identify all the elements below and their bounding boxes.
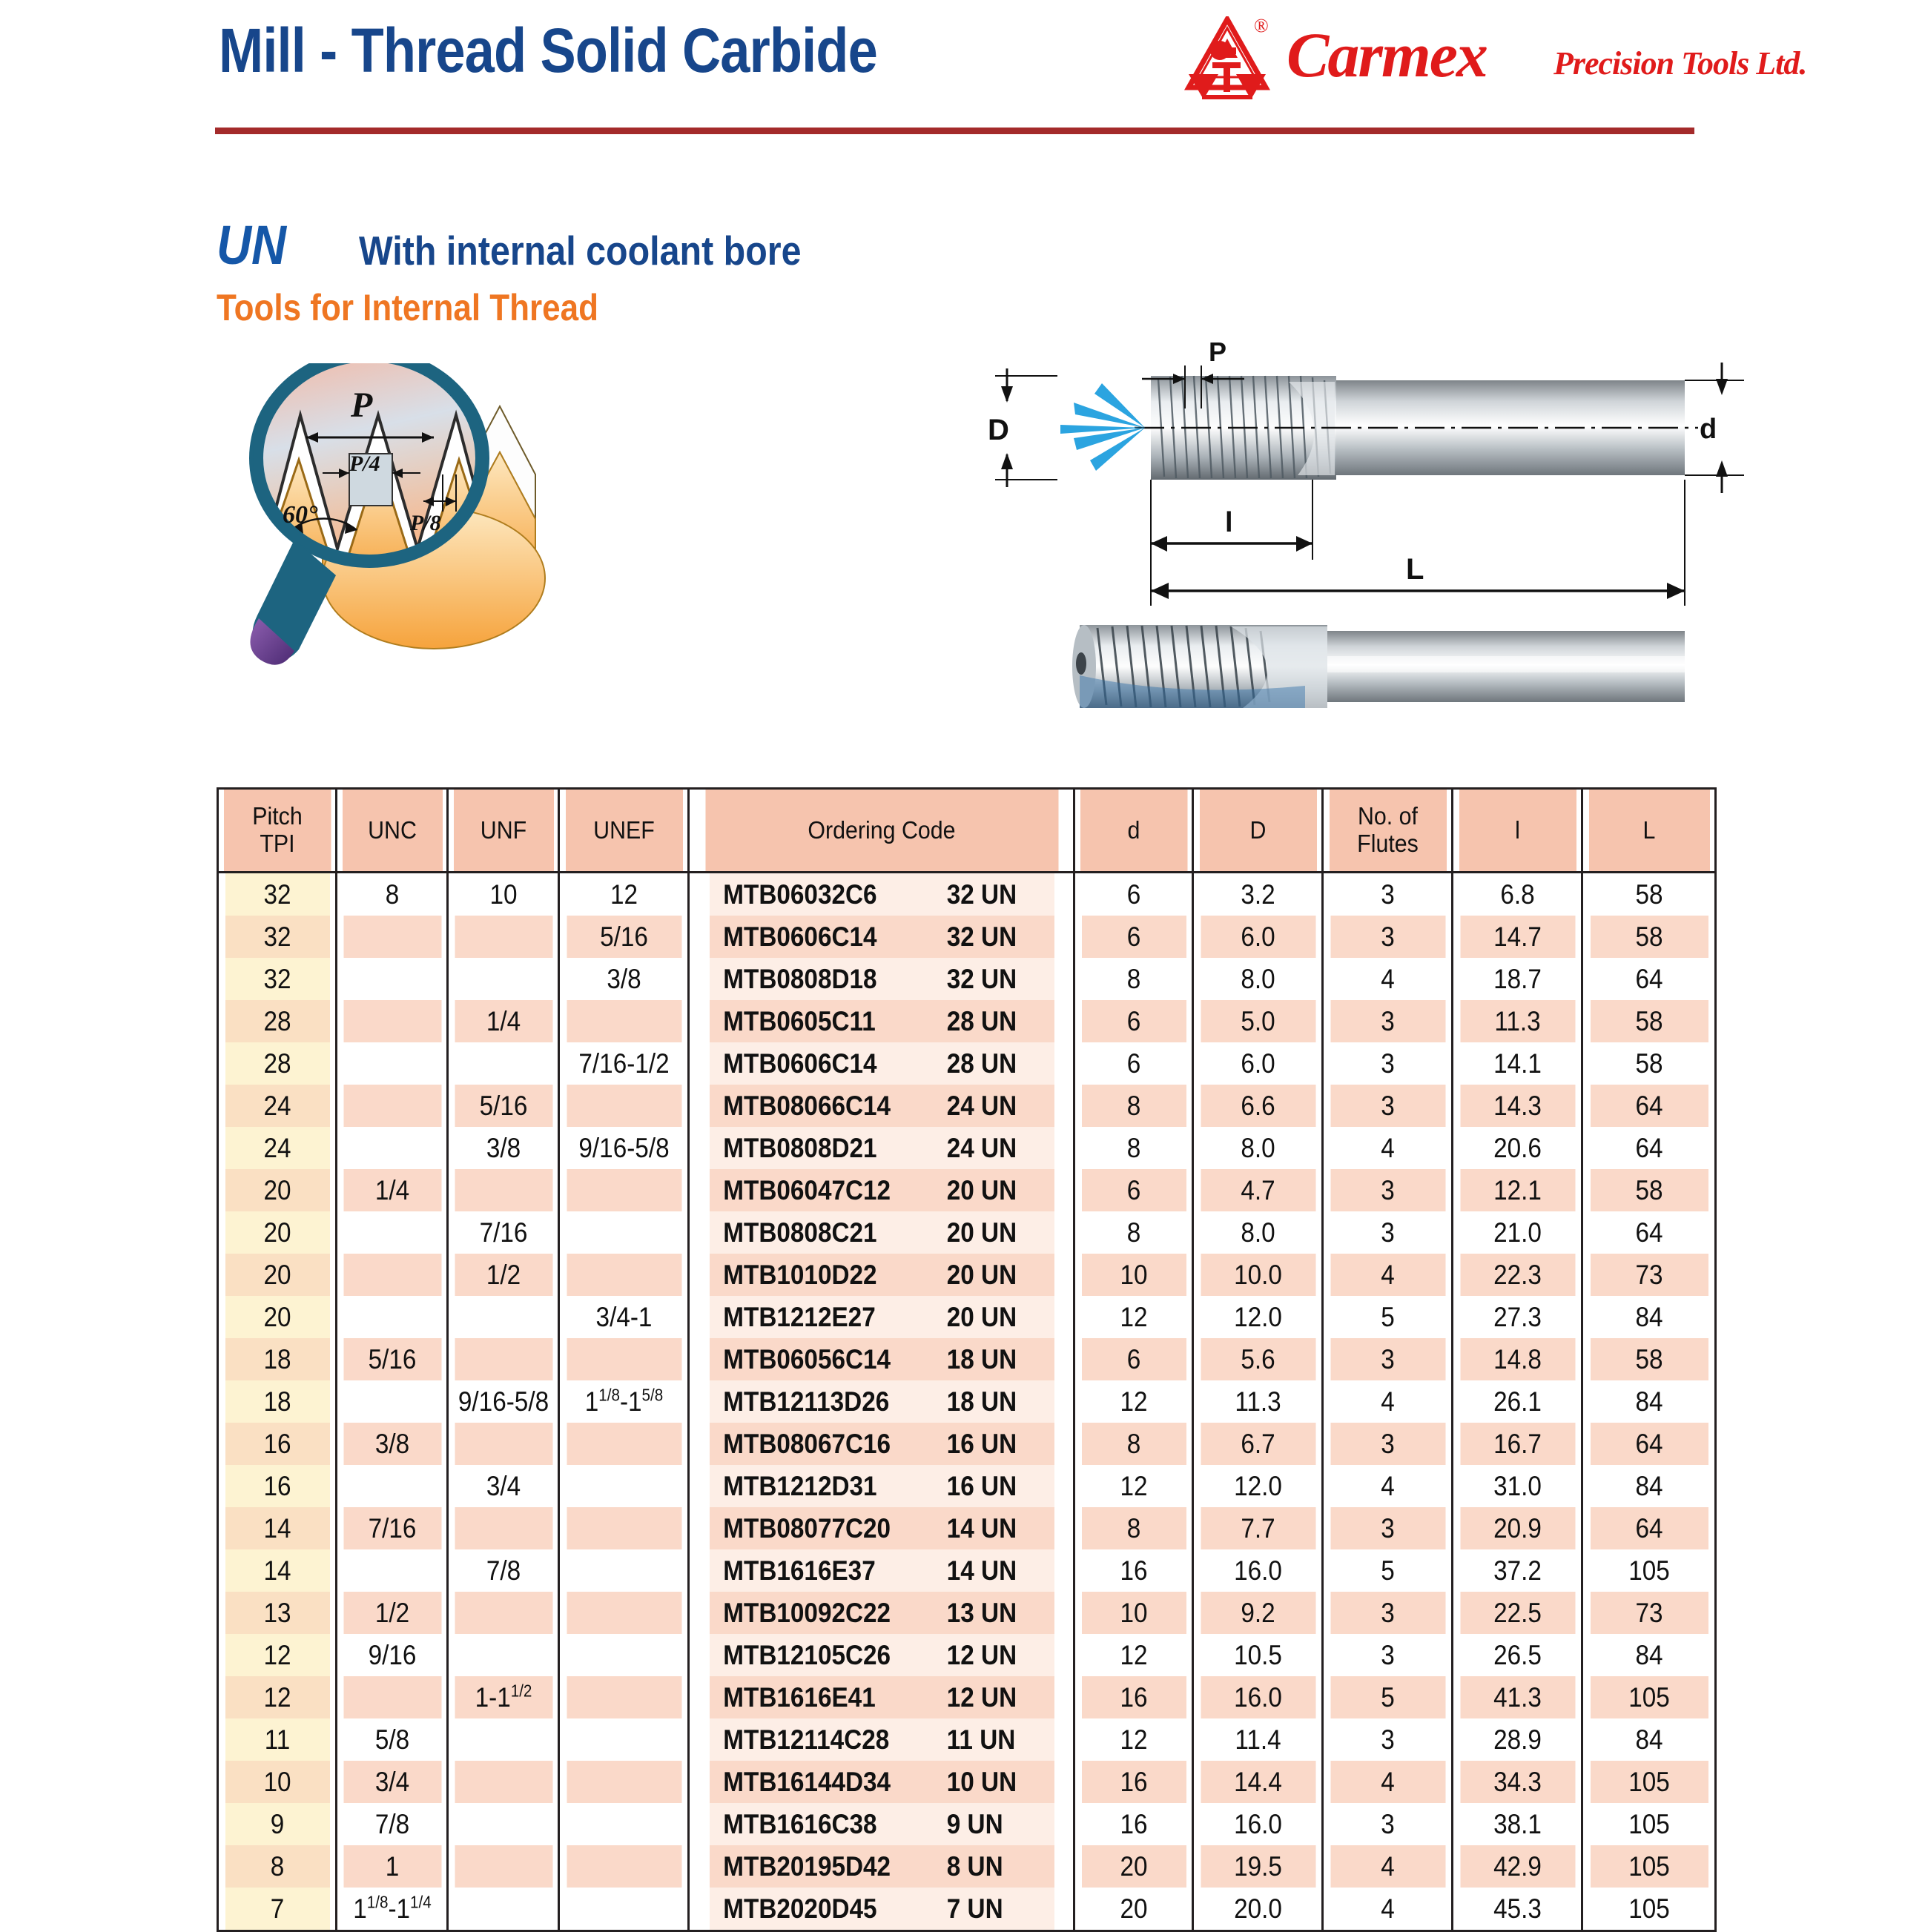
cell-shank-diameter: 6 [1080,873,1187,916]
col-header-D-major: D [1198,789,1318,873]
cell-no-of-flutes: 4 [1329,1845,1446,1888]
cell-unc: 3/8 [342,1423,442,1465]
cell-no-of-flutes: 4 [1329,1127,1446,1169]
cell-unc [342,1549,442,1592]
cell-unf [453,1761,553,1803]
cell-overall-length: 105 [1589,1676,1709,1718]
cell-shank-diameter: 12 [1080,1465,1187,1507]
table-row: 323/8MTB0808D1832 UN88.0418.764 [218,958,1716,1000]
table-row: 81MTB20195D428 UN2019.5442.9105 [218,1845,1716,1888]
cell-pitch-tpi: 12 [224,1634,331,1676]
cell-no-of-flutes: 3 [1329,1169,1446,1211]
cell-unef [565,1676,682,1718]
cell-unef: 3/8 [565,958,682,1000]
cell-overall-length: 105 [1589,1761,1709,1803]
cell-unef [565,1254,682,1296]
col-header-ordering-code: Ordering Code [704,789,1058,873]
cell-overall-length: 64 [1589,958,1709,1000]
cell-unf: 10 [453,873,553,916]
cell-no-of-flutes: 4 [1329,958,1446,1000]
cell-unc [342,916,442,958]
cell-overall-length: 58 [1589,1042,1709,1085]
magnifier-label-angle: 60° [283,501,318,529]
cell-unf [453,1718,553,1761]
cell-major-diameter: 8.0 [1199,958,1316,1000]
thread-standard-code: UN [217,214,286,277]
cell-unc [342,1211,442,1254]
catalog-page: Mill - Thread Solid Carbide ® Carmex [0,0,1925,1925]
cell-unef [565,1211,682,1254]
cell-ordering-code: MTB0808C2120 UN [708,1211,1055,1254]
table-row: 185/16MTB06056C1418 UN65.6314.858 [218,1338,1716,1380]
cell-unc: 5/8 [342,1718,442,1761]
cell-pitch-tpi: 24 [224,1085,331,1127]
cell-unf [453,1634,553,1676]
table-row: 281/4MTB0605C1128 UN65.0311.358 [218,1000,1716,1042]
cell-thread-length: 34.3 [1459,1761,1576,1803]
cell-shank-diameter: 12 [1080,1634,1187,1676]
cell-thread-length: 6.8 [1459,873,1576,916]
cell-pitch-tpi: 28 [224,1000,331,1042]
cell-shank-diameter: 8 [1080,1423,1187,1465]
diagram-label-P: P [1209,337,1226,367]
cell-major-diameter: 4.7 [1199,1169,1316,1211]
cell-unf: 3/4 [453,1465,553,1507]
cell-major-diameter: 10.5 [1199,1634,1316,1676]
cell-no-of-flutes: 3 [1329,1634,1446,1676]
cell-no-of-flutes: 3 [1329,1423,1446,1465]
cell-overall-length: 58 [1589,873,1709,916]
col-header-L: L [1588,789,1711,873]
cell-unef [565,1423,682,1465]
cell-no-of-flutes: 4 [1329,1465,1446,1507]
thread-profile-illustration: P P/4 P/8 60° [211,363,597,712]
cell-unc [342,958,442,1000]
registered-mark: ® [1254,15,1269,37]
cell-shank-diameter: 8 [1080,958,1187,1000]
cell-thread-length: 31.0 [1459,1465,1576,1507]
cell-overall-length: 84 [1589,1634,1709,1676]
cell-overall-length: 105 [1589,1803,1709,1845]
table-row: 243/89/16-5/8MTB0808D2124 UN88.0420.664 [218,1127,1716,1169]
cell-unf [453,1296,553,1338]
cell-shank-diameter: 16 [1080,1761,1187,1803]
cell-ordering-code: MTB0606C1428 UN [708,1042,1055,1085]
table-row: 147/8MTB1616E3714 UN1616.0537.2105 [218,1549,1716,1592]
cell-pitch-tpi: 16 [224,1465,331,1507]
cell-overall-length: 64 [1589,1423,1709,1465]
table-row: 129/16MTB12105C2612 UN1210.5326.584 [218,1634,1716,1676]
magnifier-label-p4: P/4 [349,451,380,476]
cell-thread-length: 14.1 [1459,1042,1576,1085]
cell-major-diameter: 8.0 [1199,1127,1316,1169]
cell-overall-length: 64 [1589,1127,1709,1169]
cell-unc [342,1676,442,1718]
section-heading: UN With internal coolant bore Tools for … [217,214,296,277]
cell-unef [565,1718,682,1761]
cell-thread-length: 26.5 [1459,1634,1576,1676]
col-header-l: l [1458,789,1577,873]
cell-thread-length: 22.5 [1459,1592,1576,1634]
cell-pitch-tpi: 10 [224,1761,331,1803]
cell-overall-length: 84 [1589,1465,1709,1507]
cell-overall-length: 58 [1589,1338,1709,1380]
cell-unc: 5/16 [342,1338,442,1380]
tool-photo-view [1072,625,1685,708]
magnifier-label-p8: P/8 [409,511,441,535]
cell-unc [342,1465,442,1507]
table-row: 163/4MTB1212D3116 UN1212.0431.084 [218,1465,1716,1507]
cell-no-of-flutes: 3 [1329,1042,1446,1085]
cell-major-diameter: 6.7 [1199,1423,1316,1465]
cell-ordering-code: MTB1212E2720 UN [708,1296,1055,1338]
cell-thread-length: 14.3 [1459,1085,1576,1127]
table-row: 287/16-1/2MTB0606C1428 UN66.0314.158 [218,1042,1716,1085]
cell-thread-length: 20.6 [1459,1127,1576,1169]
cell-pitch-tpi: 28 [224,1042,331,1085]
cell-shank-diameter: 12 [1080,1718,1187,1761]
cell-pitch-tpi: 20 [224,1211,331,1254]
table-body: 3281012MTB06032C632 UN63.236.858325/16MT… [218,873,1716,1931]
page-title: Mill - Thread Solid Carbide [219,15,877,87]
cell-no-of-flutes: 5 [1329,1296,1446,1338]
cell-ordering-code: MTB1010D2220 UN [708,1254,1055,1296]
cell-shank-diameter: 8 [1080,1211,1187,1254]
diagram-label-d: d [1700,414,1717,445]
cell-ordering-code: MTB06056C1418 UN [708,1338,1055,1380]
cell-major-diameter: 7.7 [1199,1507,1316,1549]
cell-unf [453,1169,553,1211]
cell-thread-length: 20.9 [1459,1507,1576,1549]
table-row: 201/4MTB06047C1220 UN64.7312.158 [218,1169,1716,1211]
table-row: 147/16MTB08077C2014 UN87.7320.964 [218,1507,1716,1549]
diagram-label-l: l [1225,507,1233,538]
cell-unef [565,1592,682,1634]
cell-unef [565,1338,682,1380]
cell-thread-length: 26.1 [1459,1380,1576,1423]
table-row: 3281012MTB06032C632 UN63.236.858 [218,873,1716,916]
cell-no-of-flutes: 5 [1329,1676,1446,1718]
cell-shank-diameter: 6 [1080,916,1187,958]
cell-major-diameter: 16.0 [1199,1803,1316,1845]
cell-ordering-code: MTB08077C2014 UN [708,1507,1055,1549]
col-header-unf: UNF [452,789,555,873]
cell-major-diameter: 12.0 [1199,1465,1316,1507]
table-header-row: PitchTPI UNC UNF UNEF Ordering Code d D … [218,789,1716,873]
cell-unc [342,1042,442,1085]
col-header-d: d [1079,789,1188,873]
specification-table-wrapper: PitchTPI UNC UNF UNEF Ordering Code d D … [217,787,1714,1932]
cell-unf: 1-11/2 [453,1676,553,1718]
cell-unef: 3/4-1 [565,1296,682,1338]
table-row: 103/4MTB16144D3410 UN1614.4434.3105 [218,1761,1716,1803]
cell-unf [453,1042,553,1085]
cell-major-diameter: 3.2 [1199,873,1316,916]
cell-shank-diameter: 20 [1080,1845,1187,1888]
cell-unc [342,1127,442,1169]
cell-unef [565,1169,682,1211]
cell-pitch-tpi: 32 [224,916,331,958]
cell-unef [565,1085,682,1127]
brand-name: Carmex [1287,18,1487,92]
cell-unf: 7/16 [453,1211,553,1254]
cell-unf: 7/8 [453,1549,553,1592]
col-header-unc: UNC [341,789,443,873]
cell-unf: 1/4 [453,1000,553,1042]
cell-pitch-tpi: 14 [224,1549,331,1592]
cell-no-of-flutes: 4 [1329,1761,1446,1803]
cell-unc [342,1254,442,1296]
cell-unef [565,1761,682,1803]
cell-unf [453,1507,553,1549]
cell-shank-diameter: 6 [1080,1042,1187,1085]
cell-unef [565,1803,682,1845]
cell-shank-diameter: 12 [1080,1380,1187,1423]
cell-major-diameter: 6.0 [1199,1042,1316,1085]
cell-unc: 9/16 [342,1634,442,1676]
cell-no-of-flutes: 3 [1329,1718,1446,1761]
cell-pitch-tpi: 9 [224,1803,331,1845]
cell-no-of-flutes: 3 [1329,1211,1446,1254]
cell-unef: 11/8-15/8 [565,1380,682,1423]
cell-thread-length: 28.9 [1459,1718,1576,1761]
table-row: 97/8MTB1616C389 UN1616.0338.1105 [218,1803,1716,1845]
cell-thread-length: 16.7 [1459,1423,1576,1465]
cell-unc [342,1296,442,1338]
cell-ordering-code: MTB1212D3116 UN [708,1465,1055,1507]
cell-ordering-code: MTB0606C1432 UN [708,916,1055,958]
cell-no-of-flutes: 4 [1329,1254,1446,1296]
table-row: 131/2MTB10092C2213 UN109.2322.573 [218,1592,1716,1634]
cell-ordering-code: MTB06032C632 UN [708,873,1055,916]
cell-major-diameter: 5.0 [1199,1000,1316,1042]
cell-unf [453,1423,553,1465]
tool-dimension-diagram: D d P l [986,337,1750,715]
cell-overall-length: 105 [1589,1845,1709,1888]
cell-thread-length: 21.0 [1459,1211,1576,1254]
cell-overall-length: 64 [1589,1507,1709,1549]
cell-thread-length: 14.7 [1459,916,1576,958]
cell-no-of-flutes: 3 [1329,873,1446,916]
cell-overall-length: 64 [1589,1211,1709,1254]
cell-no-of-flutes: 3 [1329,916,1446,958]
cell-no-of-flutes: 3 [1329,1803,1446,1845]
cell-no-of-flutes: 3 [1329,1085,1446,1127]
cell-unef: 12 [565,873,682,916]
header-divider [215,128,1694,134]
cell-unf [453,916,553,958]
cell-ordering-code: MTB12114C2811 UN [708,1718,1055,1761]
cell-major-diameter: 16.0 [1199,1676,1316,1718]
cell-ordering-code: MTB08067C1616 UN [708,1423,1055,1465]
cell-pitch-tpi: 32 [224,873,331,916]
cell-major-diameter: 12.0 [1199,1296,1316,1338]
cell-unc: 7/8 [342,1803,442,1845]
cell-pitch-tpi: 16 [224,1423,331,1465]
cell-unc [342,1085,442,1127]
cell-pitch-tpi: 12 [224,1676,331,1718]
cell-ordering-code: MTB0605C1128 UN [708,1000,1055,1042]
cell-ordering-code: MTB1616E4112 UN [708,1676,1055,1718]
cell-unc: 1/4 [342,1169,442,1211]
cell-overall-length: 84 [1589,1296,1709,1338]
table-row: 121-11/2MTB1616E4112 UN1616.0541.3105 [218,1676,1716,1718]
cell-no-of-flutes: 4 [1329,1380,1446,1423]
cell-unef [565,1507,682,1549]
cell-thread-length: 38.1 [1459,1803,1576,1845]
cell-overall-length: 64 [1589,1085,1709,1127]
cell-thread-length: 22.3 [1459,1254,1576,1296]
cell-ordering-code: MTB06047C1220 UN [708,1169,1055,1211]
cell-thread-length: 42.9 [1459,1845,1576,1888]
page-header: Mill - Thread Solid Carbide ® Carmex [0,0,1925,133]
cell-major-diameter: 11.4 [1199,1718,1316,1761]
cell-shank-diameter: 6 [1080,1169,1187,1211]
cell-unf: 3/8 [453,1127,553,1169]
section-description: With internal coolant bore [359,227,802,274]
diagram-label-L: L [1406,553,1424,586]
cell-unef [565,1634,682,1676]
cell-unf [453,1338,553,1380]
brand-tagline: Precision Tools Ltd. [1553,44,1806,82]
cell-shank-diameter: 10 [1080,1592,1187,1634]
cell-unef [565,1845,682,1888]
cell-unc: 1 [342,1845,442,1888]
diagram-label-D: D [988,414,1009,446]
cell-overall-length: 73 [1589,1254,1709,1296]
cell-pitch-tpi: 24 [224,1127,331,1169]
cell-no-of-flutes: 3 [1329,1338,1446,1380]
table-row: 245/16MTB08066C1424 UN86.6314.364 [218,1085,1716,1127]
cell-overall-length: 58 [1589,916,1709,958]
cell-unc [342,1380,442,1423]
cell-ordering-code: MTB20195D428 UN [708,1845,1055,1888]
table-row: 325/16MTB0606C1432 UN66.0314.758 [218,916,1716,958]
cell-major-diameter: 6.6 [1199,1085,1316,1127]
cell-unef [565,1549,682,1592]
cell-overall-length: 58 [1589,1000,1709,1042]
table-row: 207/16MTB0808C2120 UN88.0321.064 [218,1211,1716,1254]
cell-unf [453,1592,553,1634]
cell-shank-diameter: 6 [1080,1338,1187,1380]
cell-no-of-flutes: 3 [1329,1000,1446,1042]
cell-shank-diameter: 8 [1080,1127,1187,1169]
magnifier-label-pitch: P [350,386,373,425]
cell-unef: 7/16-1/2 [565,1042,682,1085]
cell-overall-length: 105 [1589,1549,1709,1592]
cell-pitch-tpi: 14 [224,1507,331,1549]
cell-ordering-code: MTB12113D2618 UN [708,1380,1055,1423]
cell-shank-diameter: 12 [1080,1296,1187,1338]
cell-pitch-tpi: 18 [224,1338,331,1380]
cell-ordering-code: MTB0808D1832 UN [708,958,1055,1000]
cell-pitch-tpi: 32 [224,958,331,1000]
table-row: 115/8MTB12114C2811 UN1211.4328.984 [218,1718,1716,1761]
cell-thread-length: 14.8 [1459,1338,1576,1380]
cell-thread-length: 37.2 [1459,1549,1576,1592]
cell-ordering-code: MTB1616C389 UN [708,1803,1055,1845]
cell-overall-length: 84 [1589,1718,1709,1761]
specification-table: PitchTPI UNC UNF UNEF Ordering Code d D … [217,787,1717,1932]
cell-pitch-tpi: 20 [224,1169,331,1211]
cell-unef: 9/16-5/8 [565,1127,682,1169]
col-header-no-of-flutes: No. ofFlutes [1328,789,1447,873]
cell-unf: 1/2 [453,1254,553,1296]
cell-major-diameter: 16.0 [1199,1549,1316,1592]
table-row: 189/16-5/811/8-15/8MTB12113D2618 UN1211.… [218,1380,1716,1423]
col-header-unef: UNEF [564,789,684,873]
cell-thread-length: 18.7 [1459,958,1576,1000]
cell-unc: 3/4 [342,1761,442,1803]
cell-unf [453,958,553,1000]
cell-major-diameter: 6.0 [1199,916,1316,958]
col-header-pitch-tpi: PitchTPI [222,789,331,873]
cell-no-of-flutes: 5 [1329,1549,1446,1592]
cell-ordering-code: MTB1616E3714 UN [708,1549,1055,1592]
cell-thread-length: 41.3 [1459,1676,1576,1718]
cell-pitch-tpi: 8 [224,1845,331,1888]
cell-no-of-flutes: 3 [1329,1507,1446,1549]
cell-unef [565,1465,682,1507]
cell-major-diameter: 14.4 [1199,1761,1316,1803]
cell-ordering-code: MTB0808D2124 UN [708,1127,1055,1169]
cell-unef [565,1000,682,1042]
cell-overall-length: 73 [1589,1592,1709,1634]
cell-shank-diameter: 6 [1080,1000,1187,1042]
cell-unf: 5/16 [453,1085,553,1127]
cell-shank-diameter: 16 [1080,1803,1187,1845]
table-row: 203/4-1MTB1212E2720 UN1212.0527.384 [218,1296,1716,1338]
cell-unc [342,1000,442,1042]
cell-unf [453,1845,553,1888]
cell-thread-length: 27.3 [1459,1296,1576,1338]
cell-unc: 8 [342,873,442,916]
cell-major-diameter: 19.5 [1199,1845,1316,1888]
cell-major-diameter: 11.3 [1199,1380,1316,1423]
carmex-logo: ® Carmex Precision Tools Ltd. [1183,13,1731,102]
cell-thread-length: 11.3 [1459,1000,1576,1042]
cell-unc: 7/16 [342,1507,442,1549]
cell-shank-diameter: 10 [1080,1254,1187,1296]
cell-shank-diameter: 8 [1080,1507,1187,1549]
cell-pitch-tpi: 13 [224,1592,331,1634]
cell-major-diameter: 9.2 [1199,1592,1316,1634]
table-row: 163/8MTB08067C1616 UN86.7316.764 [218,1423,1716,1465]
cell-unf [453,1803,553,1845]
cell-pitch-tpi: 11 [224,1718,331,1761]
section-subtitle: Tools for Internal Thread [217,286,598,329]
cell-pitch-tpi: 18 [224,1380,331,1423]
cell-ordering-code: MTB12105C2612 UN [708,1634,1055,1676]
cell-ordering-code: MTB16144D3410 UN [708,1761,1055,1803]
cell-major-diameter: 8.0 [1199,1211,1316,1254]
cell-thread-length: 12.1 [1459,1169,1576,1211]
cell-shank-diameter: 16 [1080,1549,1187,1592]
cell-overall-length: 58 [1589,1169,1709,1211]
cell-no-of-flutes: 3 [1329,1592,1446,1634]
cell-ordering-code: MTB08066C1424 UN [708,1085,1055,1127]
cell-pitch-tpi: 20 [224,1296,331,1338]
cell-shank-diameter: 8 [1080,1085,1187,1127]
cell-shank-diameter: 16 [1080,1676,1187,1718]
cell-major-diameter: 5.6 [1199,1338,1316,1380]
cell-ordering-code: MTB10092C2213 UN [708,1592,1055,1634]
cell-major-diameter: 10.0 [1199,1254,1316,1296]
cell-overall-length: 84 [1589,1380,1709,1423]
cell-unc: 1/2 [342,1592,442,1634]
table-row: 201/2MTB1010D2220 UN1010.0422.373 [218,1254,1716,1296]
cell-unef: 5/16 [565,916,682,958]
